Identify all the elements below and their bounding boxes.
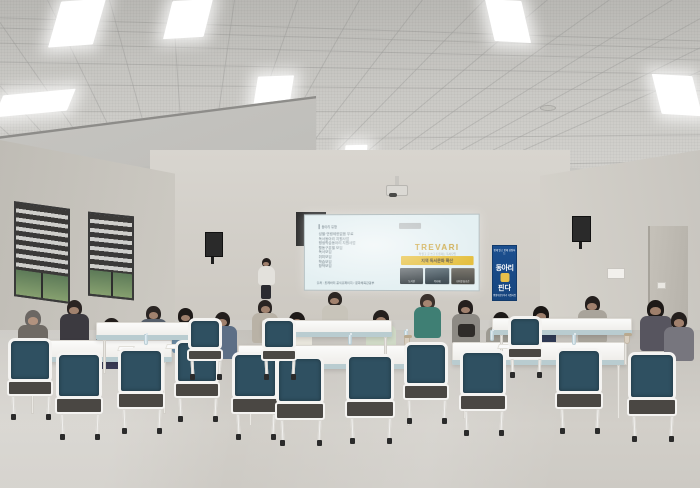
presenter-legs [261, 285, 271, 299]
window-1 [14, 201, 70, 304]
chair-4-seat [174, 382, 220, 398]
slide-highlight-bar: 지역 독서문화 확산 [401, 256, 474, 265]
banner-emblem-icon [500, 273, 509, 282]
chair-leg [158, 409, 162, 430]
projector-lens-icon [389, 193, 397, 197]
banner-line-2: 핀다 [493, 283, 516, 293]
roll-up-banner: 함께 읽고 함께 성장하는 동아리 핀다 평생학습동아리 지원사업 [492, 245, 517, 301]
chair-foot [46, 414, 51, 420]
chair-10-backrest [556, 348, 602, 394]
wall-sign [607, 268, 625, 279]
speaker-right [572, 216, 591, 242]
zebra-blind[interactable] [90, 214, 132, 274]
chair-8-backrest [404, 342, 448, 386]
chair-foot [464, 430, 469, 436]
projector-mount [395, 176, 399, 185]
chair-leg [408, 400, 412, 420]
smoke-detector-icon [540, 105, 556, 111]
chair-7-seat [345, 400, 395, 417]
chair-10[interactable] [556, 348, 602, 430]
chair-foot [291, 374, 296, 380]
chair-foot [560, 428, 565, 434]
chair-leg [60, 414, 64, 436]
chair-13[interactable] [262, 318, 296, 376]
chair-foot [157, 428, 162, 434]
speaker-left [205, 232, 223, 257]
chair-leg [122, 409, 126, 430]
chair-9[interactable] [460, 350, 506, 432]
chair-3-backrest [118, 348, 164, 394]
chair-leg [213, 398, 217, 418]
seminar-room-photo: 동아리 유형 성별·연령제한없음 무료독서동아리 지원사업평생학습동아리 지원사… [0, 0, 700, 488]
chair-10-seat [555, 392, 603, 408]
coffee-cup [624, 334, 630, 344]
chair-leg [464, 411, 468, 432]
chair-foot [280, 440, 285, 446]
chair-foot [236, 434, 241, 440]
banner-top-line: 함께 읽고 함께 성장하는 [493, 249, 516, 255]
banner-line-1: 동아리 [493, 263, 516, 273]
presenter [258, 258, 275, 286]
wall-switch-plate[interactable] [657, 282, 666, 289]
attendee-2-head [69, 307, 79, 314]
attendee-17-head [674, 319, 684, 326]
chair-foot [213, 416, 218, 422]
chair-12-backrest [188, 318, 222, 350]
attendee-11-head [423, 300, 432, 307]
chair-2-backrest [56, 352, 102, 399]
chair-14-backrest [508, 316, 542, 348]
projection-screen: 동아리 유형 성별·연령제한없음 무료독서동아리 지원사업평생학습동아리 지원사… [304, 214, 480, 292]
chair-foot [190, 374, 195, 380]
chair-foot [510, 372, 515, 378]
slide-bullet-8: 창작모임 [319, 264, 384, 269]
chair-foot [595, 428, 600, 434]
projected-slide: 동아리 유형 성별·연령제한없음 무료독서동아리 지원사업평생학습동아리 지원사… [304, 214, 480, 292]
chair-foot [407, 418, 412, 424]
thumb-1-caption: 도서관 [400, 279, 423, 283]
slide-heading: 동아리 유형 [319, 224, 337, 229]
chair-foot [350, 438, 355, 444]
chair-leg [632, 416, 636, 438]
chair-leg [388, 418, 392, 440]
chair-14-seat [507, 347, 542, 359]
attendee-11 [414, 294, 441, 340]
chair-13-backrest [262, 318, 296, 350]
attendee-4-head [149, 312, 158, 319]
slide-footer: 출처 : 트레바리 공식홈페이지 / 문화체육관광부 [317, 281, 375, 285]
chair-11[interactable] [628, 352, 676, 438]
thumb-1: 도서관 [400, 268, 423, 284]
chair-foot [217, 374, 222, 380]
chair-leg [560, 409, 564, 430]
zebra-blind[interactable] [16, 203, 68, 276]
chair-foot [632, 436, 637, 442]
thumb-3: 지역문화공간 [451, 268, 475, 284]
water-bottle [348, 334, 352, 345]
chair-3[interactable] [118, 348, 164, 430]
attendee-15-head [587, 303, 597, 310]
chair-14[interactable] [508, 316, 542, 374]
chair-foot [442, 418, 447, 424]
chair-foot [178, 416, 183, 422]
chair-leg [442, 400, 446, 420]
table-leg [617, 365, 620, 419]
chair-7-backrest [346, 354, 394, 402]
chair-8[interactable] [404, 342, 448, 420]
slide-bullet-list: 성별·연령제한없음 무료독서동아리 지원사업평생학습동아리 지원사업활동구분별 … [319, 232, 384, 269]
chair-leg [96, 414, 100, 436]
chair-foot [264, 374, 269, 380]
chair-11-seat [627, 398, 677, 415]
chair-8-seat [403, 384, 449, 400]
chair-7[interactable] [346, 354, 394, 440]
chair-leg [12, 396, 16, 416]
chair-leg [179, 398, 183, 418]
chair-1[interactable] [8, 338, 52, 416]
slide-thumbnail-row: 도서관북카페지역문화공간 [400, 268, 475, 284]
slide-grey-box [399, 223, 421, 229]
chair-6-seat [275, 402, 325, 419]
handbag [458, 324, 475, 337]
chair-12-seat [187, 349, 222, 361]
chair-1-seat [7, 380, 53, 396]
chair-2-seat [55, 397, 103, 414]
chair-foot [60, 434, 65, 440]
banner-bottom-line: 평생학습동아리 지원사업 [493, 293, 516, 297]
chair-foot [387, 438, 392, 444]
thumb-2-caption: 북카페 [425, 279, 449, 283]
chair-leg [318, 420, 322, 442]
chair-foot [95, 434, 100, 440]
chair-1-backrest [8, 338, 52, 382]
chair-foot [122, 428, 127, 434]
water-bottle [572, 334, 576, 345]
thumb-2: 북카페 [425, 268, 449, 284]
attendee-11-torso [414, 307, 441, 338]
chair-5-seat [231, 397, 279, 414]
chair-foot [317, 440, 322, 446]
water-bottle [490, 330, 494, 341]
chair-foot [537, 372, 542, 378]
chair-leg [46, 396, 50, 416]
chair-leg [236, 414, 240, 436]
chair-12[interactable] [188, 318, 222, 376]
chair-9-backrest [460, 350, 506, 396]
chair-leg [670, 416, 674, 438]
chair-leg [596, 409, 600, 430]
chair-3-seat [117, 392, 165, 408]
chair-foot [669, 436, 674, 442]
chair-9-seat [459, 394, 507, 410]
chair-leg [500, 411, 504, 432]
chair-13-seat [261, 349, 296, 361]
chair-2[interactable] [56, 352, 102, 436]
presenter-torso [258, 266, 275, 285]
window-2 [88, 212, 134, 301]
slide-highlight-text: 지역 독서문화 확산 [401, 256, 474, 265]
chair-leg [280, 420, 284, 442]
attendee-7-head [261, 306, 270, 313]
chair-foot [11, 414, 16, 420]
attendee-1-head [28, 317, 38, 324]
chair-11-backrest [628, 352, 676, 400]
ceiling-projector [386, 185, 408, 196]
water-bottle [144, 334, 148, 345]
chair-leg [350, 418, 354, 440]
thumb-3-caption: 지역문화공간 [451, 279, 475, 283]
table-leg [103, 340, 106, 374]
chair-foot [499, 430, 504, 436]
slide-brand-title: TREVARI [401, 243, 474, 252]
